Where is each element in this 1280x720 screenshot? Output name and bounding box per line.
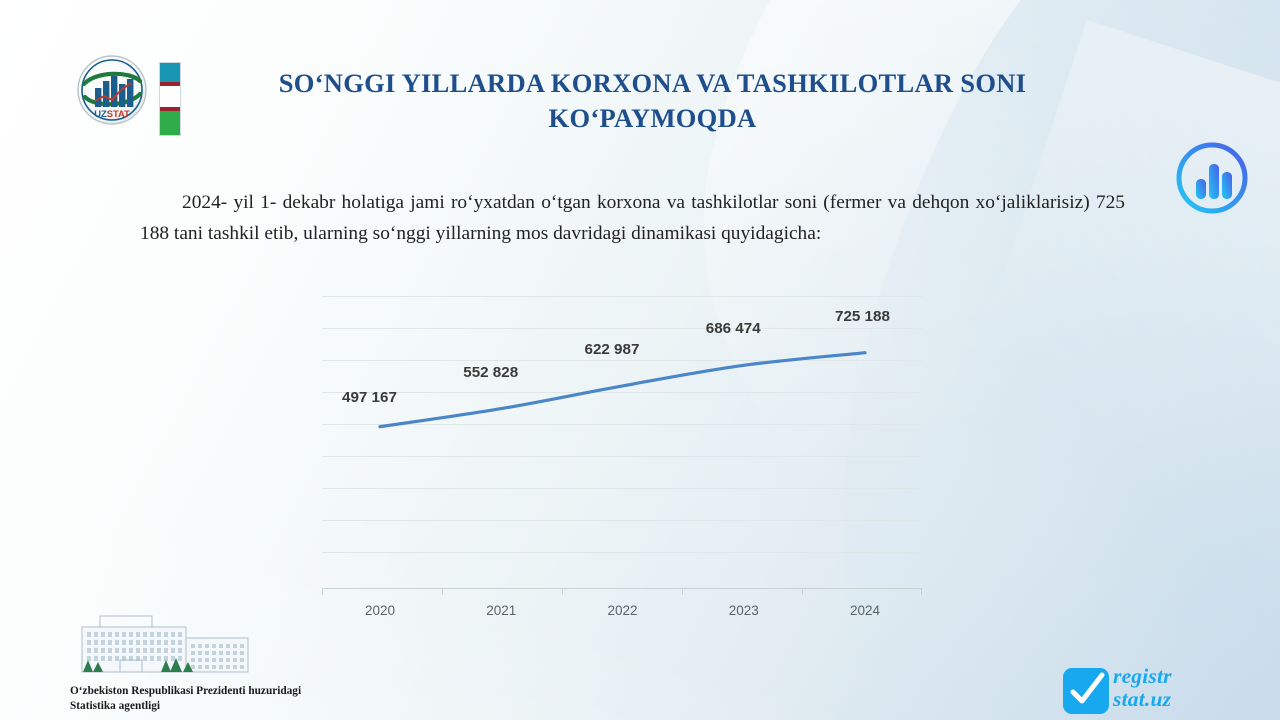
x-axis-label-2023: 2023 (704, 603, 784, 618)
data-label-2022: 622 987 (585, 341, 640, 358)
x-axis-label-2022: 2022 (583, 603, 663, 618)
x-axis-tick (562, 588, 563, 595)
intro-paragraph: 2024- yil 1- dekabr holatiga jami ro‘yxa… (140, 188, 1125, 249)
uzstat-logo: UZSTAT (76, 54, 148, 126)
x-axis-label-2020: 2020 (340, 603, 420, 618)
agency-line-1: O‘zbekiston Respublikasi Prezidenti huzu… (70, 684, 370, 699)
x-axis-tick (921, 588, 922, 595)
bar-chart-circle-icon (1172, 138, 1252, 218)
data-label-2020: 497 167 (342, 389, 397, 406)
checkmark-icon (1063, 668, 1109, 714)
x-axis-labels: 20202021202220232024 (322, 603, 922, 623)
data-label-2023: 686 474 (706, 320, 761, 337)
agency-line-2: Statistika agentligi (70, 699, 370, 714)
x-axis-line (322, 588, 922, 589)
x-axis-tick (442, 588, 443, 595)
x-axis-tick (682, 588, 683, 595)
data-label-2021: 552 828 (463, 364, 518, 381)
agency-name: O‘zbekiston Respublikasi Prezidenti huzu… (70, 684, 370, 715)
registrstat-wordmark: registr stat.uz (1113, 665, 1172, 711)
x-axis-tick (802, 588, 803, 595)
x-axis-label-2024: 2024 (825, 603, 905, 618)
uzbekistan-flag-bar (159, 62, 181, 136)
svg-text:UZSTAT: UZSTAT (94, 108, 130, 119)
x-axis-tick (322, 588, 323, 595)
registrstat-line-2: stat.uz (1113, 688, 1172, 711)
registrstat-logo[interactable]: registr stat.uz (1063, 668, 1263, 716)
slide-canvas: UZSTAT SO‘NGGI YILLARDA KORXONA VA TASHK… (0, 0, 1280, 720)
government-building-icon (70, 612, 255, 680)
x-axis-label-2021: 2021 (461, 603, 541, 618)
data-label-2024: 725 188 (835, 308, 890, 325)
page-title: SO‘NGGI YILLARDA KORXONA VA TASHKILOTLAR… (195, 66, 1110, 136)
registrstat-line-1: registr (1113, 665, 1172, 688)
